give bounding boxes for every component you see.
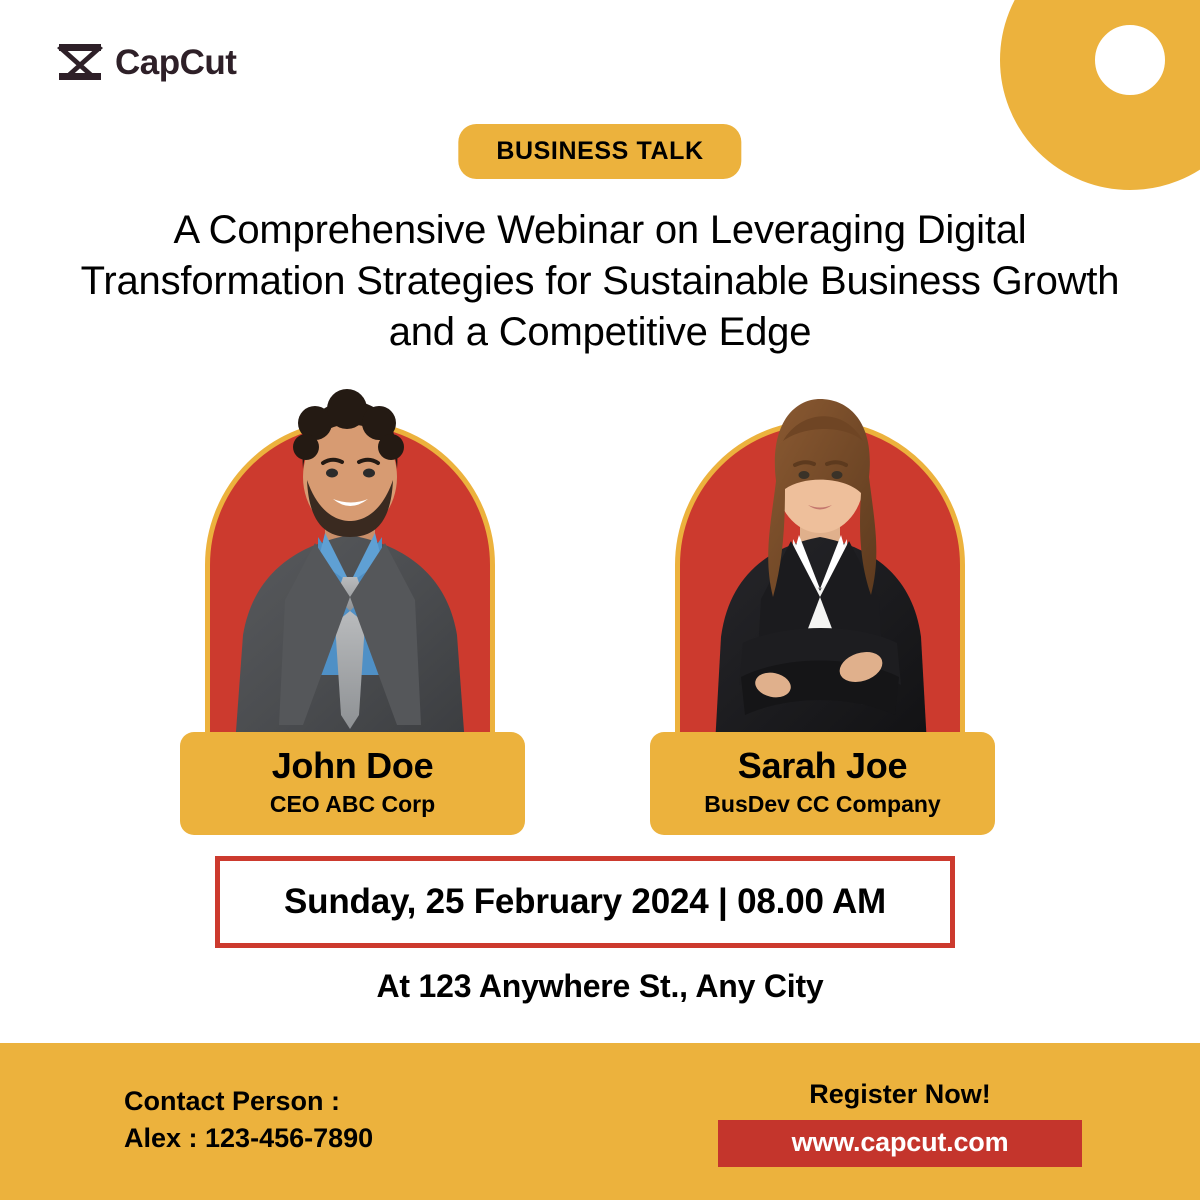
event-datetime-box: Sunday, 25 February 2024 | 08.00 AM [215,856,955,948]
register-now-label: Register Now! [718,1079,1082,1110]
speaker-role: CEO ABC Corp [190,791,515,819]
speakers-section: John Doe CEO ABC Corp [0,385,1200,835]
brand-name: CapCut [115,45,236,80]
brand-logo: CapCut [57,42,236,82]
capcut-hourglass-icon [57,42,103,82]
contact-person-label: Contact Person : [124,1083,373,1120]
corner-ring-decoration [1000,0,1200,190]
contact-person-value: Alex : 123-456-7890 [124,1120,373,1157]
page-title: A Comprehensive Webinar on Leveraging Di… [60,205,1140,357]
speaker-name: Sarah Joe [660,746,985,786]
event-poster: CapCut BUSINESS TALK A Comprehensive Web… [0,0,1200,1200]
event-venue: At 123 Anywhere St., Any City [0,968,1200,1005]
footer-bar: Contact Person : Alex : 123-456-7890 Reg… [0,1043,1200,1200]
category-badge: BUSINESS TALK [458,124,741,179]
speaker-role: BusDev CC Company [660,791,985,819]
speaker-card-1: John Doe CEO ABC Corp [175,385,525,835]
speaker-name: John Doe [190,746,515,786]
register-block: Register Now! www.capcut.com [718,1079,1082,1167]
speaker-nameplate: John Doe CEO ABC Corp [180,732,525,835]
speaker-nameplate: Sarah Joe BusDev CC Company [650,732,995,835]
event-datetime: Sunday, 25 February 2024 | 08.00 AM [284,882,886,922]
contact-block: Contact Person : Alex : 123-456-7890 [124,1083,373,1158]
register-url-button[interactable]: www.capcut.com [718,1120,1082,1167]
speaker-photo-sarah-joe [645,385,995,745]
speaker-photo-john-doe [175,385,525,745]
speaker-card-2: Sarah Joe BusDev CC Company [645,385,995,835]
